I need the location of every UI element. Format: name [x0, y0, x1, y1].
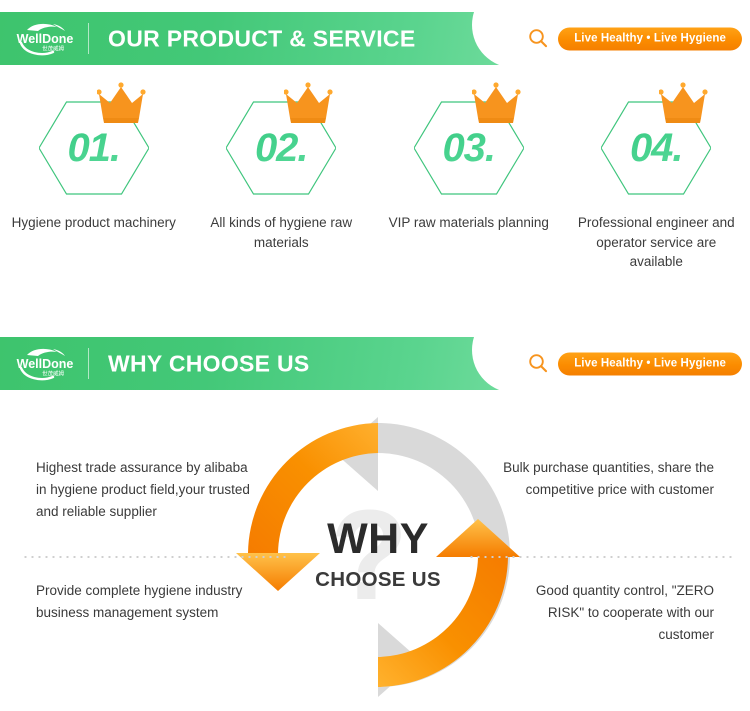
feature-label: Hygiene product machinery	[6, 213, 181, 233]
svg-text:WellDone: WellDone	[17, 357, 74, 371]
why-point-bottom-left: Provide complete hygiene industry busine…	[36, 580, 251, 624]
feature-number: 02.	[226, 98, 336, 198]
search-icon[interactable]	[527, 28, 549, 50]
feature-card-02: 02. All kinds of hygiene raw materials	[188, 84, 376, 272]
header-divider	[88, 348, 89, 379]
section-title: OUR PRODUCT & SERVICE	[108, 25, 415, 52]
why-choose-us-body: ? WHY CHOOSE US Highest trade assurance …	[0, 400, 750, 711]
search-icon[interactable]	[527, 353, 549, 375]
slogan-badge[interactable]: Live Healthy • Live Hygiene	[558, 27, 742, 50]
feature-card-03: 03. VIP raw materials planning	[375, 84, 563, 272]
divider-dots-right	[468, 556, 736, 558]
hex-badge: 04.	[601, 84, 711, 202]
header-badge-zone: Live Healthy • Live Hygiene	[527, 352, 742, 375]
section-header-why: WellDone 世茂威姆 WHY CHOOSE US Live Healthy…	[0, 337, 750, 390]
why-point-top-left: Highest trade assurance by alibaba in hy…	[36, 457, 251, 523]
brand-logo: WellDone 世茂威姆	[12, 18, 78, 60]
feature-card-01: 01. Hygiene product machinery	[0, 84, 188, 272]
header-divider	[88, 23, 89, 54]
feature-number: 03.	[414, 98, 524, 198]
hex-badge: 01.	[39, 84, 149, 202]
why-headline: WHY	[228, 518, 528, 561]
why-subhead: CHOOSE US	[228, 568, 528, 592]
section-title: WHY CHOOSE US	[108, 350, 310, 377]
feature-number: 01.	[39, 98, 149, 198]
svg-text:WellDone: WellDone	[17, 32, 74, 46]
marketing-page: WellDone 世茂威姆 OUR PRODUCT & SERVICE Live…	[0, 0, 750, 711]
hex-badge: 02.	[226, 84, 336, 202]
feature-card-04: 04. Professional engineer and operator s…	[563, 84, 750, 272]
section-header-product: WellDone 世茂威姆 OUR PRODUCT & SERVICE Live…	[0, 12, 750, 65]
brand-logo: WellDone 世茂威姆	[12, 343, 78, 385]
feature-number: 04.	[601, 98, 711, 198]
divider-dots-left	[22, 556, 290, 558]
feature-label: All kinds of hygiene raw materials	[194, 213, 369, 252]
hex-badge: 03.	[414, 84, 524, 202]
welldone-logo-icon: WellDone 世茂威姆	[13, 344, 77, 384]
header-badge-zone: Live Healthy • Live Hygiene	[527, 27, 742, 50]
welldone-logo-icon: WellDone 世茂威姆	[13, 19, 77, 59]
feature-list: 01. Hygiene product machinery 02. All ki…	[0, 84, 750, 272]
feature-label: VIP raw materials planning	[381, 213, 556, 233]
why-point-top-right: Bulk purchase quantities, share the comp…	[499, 457, 714, 501]
why-point-bottom-right: Good quantity control, "ZERO RISK" to co…	[499, 580, 714, 646]
feature-label: Professional engineer and operator servi…	[569, 213, 744, 272]
slogan-badge[interactable]: Live Healthy • Live Hygiene	[558, 352, 742, 375]
